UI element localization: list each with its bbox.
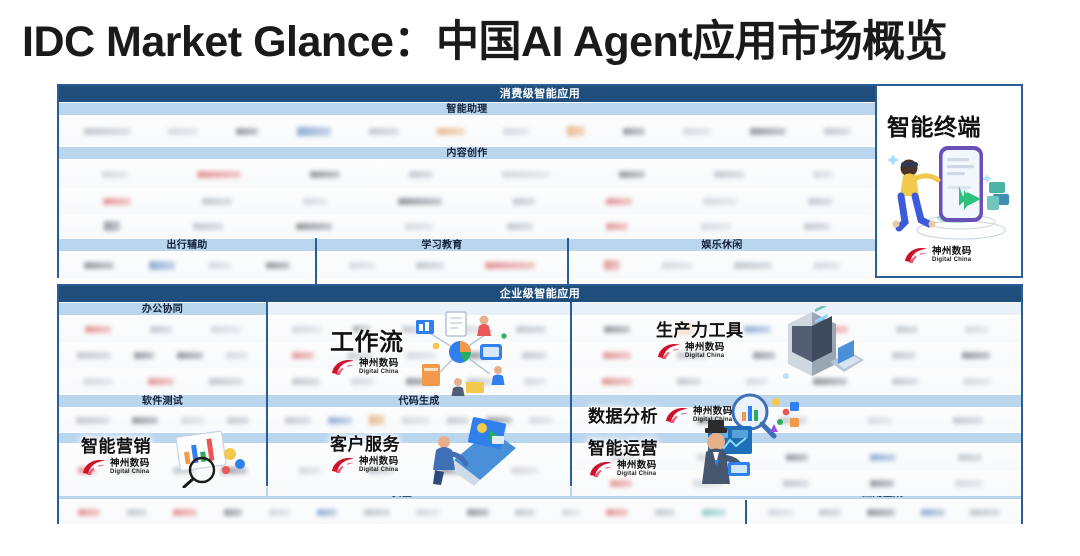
band-code-generation: 代码生成 (268, 394, 570, 408)
logo-strip-office-2 (59, 342, 266, 368)
band-smart-assistant: 智能助理 (59, 102, 875, 116)
band-spacer-center (268, 432, 570, 444)
page-title: IDC Market Glance：中国AI Agent应用市场概览 (22, 14, 1062, 70)
logo-strip-code-generation (268, 408, 570, 432)
logo-strip-content-creation-3 (59, 214, 875, 238)
logo-strip-marketing (59, 444, 266, 496)
logo-strip-data-analysis (572, 408, 1021, 432)
logo-strip-operations-1 (572, 444, 1021, 470)
panel-title-smart-terminal: 智能终端 (887, 108, 981, 142)
logo-strip-app-generation (747, 500, 1021, 524)
enterprise-column-center: 代码生成 (268, 302, 570, 486)
band-software-testing: 软件测试 (59, 394, 266, 408)
smartphone-vr-illustration (883, 134, 1021, 244)
band-spacer-center-top (268, 302, 570, 316)
logo-strip-customer-service (268, 444, 570, 496)
enterprise-columns: 办公协同 软件测试 (59, 302, 1021, 486)
logo-strip-office-1 (59, 316, 266, 342)
logo-strip-security (59, 500, 745, 524)
band-learning-education: 学习教育 (317, 238, 567, 252)
digital-china-logo: 神州数码 Digital China (903, 246, 972, 264)
band-spacer-left (59, 432, 266, 444)
logo-strip-travel-1 (59, 252, 315, 278)
enterprise-footer-logos (59, 500, 1021, 524)
logo-strip-operations-2 (572, 470, 1021, 496)
consumer-column-bands: 出行辅助 学习教育 娱乐休闲 (59, 238, 875, 252)
band-spacer-data-analysis (572, 394, 1021, 408)
consumer-feature-panel-smart-terminal: 智能终端 (875, 86, 1021, 276)
logo-strip-content-creation-1 (59, 160, 875, 188)
enterprise-column-left: 办公协同 软件测试 (59, 302, 266, 486)
logo-strip-productivity-1 (572, 316, 1021, 342)
band-spacer-right (572, 432, 1021, 444)
digital-china-mark (903, 246, 929, 264)
logo-strip-education-1 (317, 252, 567, 278)
logo-strip-workflow-2 (268, 342, 570, 368)
logo-strip-productivity-3 (572, 368, 1021, 394)
logo-strip-entertainment-1 (569, 252, 875, 278)
logo-strip-workflow-3 (268, 368, 570, 394)
brand-name-cn: 神州数码 (932, 247, 972, 257)
logo-strip-content-creation-2 (59, 188, 875, 214)
enterprise-column-right: 生产力工具 神州数码 Digital China (572, 302, 1021, 486)
band-content-creation: 内容创作 (59, 146, 875, 160)
logo-strip-smart-assistant (59, 116, 875, 146)
band-office-collaboration: 办公协同 (59, 302, 266, 316)
consumer-section: 消费级智能应用 智能助理 内容创作 (57, 84, 1023, 278)
slide-canvas: IDC Market Glance：中国AI Agent应用市场概览 消费级智能… (0, 0, 1080, 556)
logo-strip-productivity-2 (572, 342, 1021, 368)
logo-strip-software-testing (59, 408, 266, 432)
logo-strip-workflow-1 (268, 316, 570, 342)
band-travel-assist: 出行辅助 (59, 238, 315, 252)
band-spacer-right-top (572, 302, 1021, 316)
band-entertainment: 娱乐休闲 (569, 238, 875, 252)
enterprise-section-header: 企业级智能应用 (59, 286, 1021, 302)
brand-name-en: Digital China (932, 257, 972, 263)
logo-strip-office-3 (59, 368, 266, 394)
enterprise-section: 企业级智能应用 办公协同 (57, 284, 1023, 524)
